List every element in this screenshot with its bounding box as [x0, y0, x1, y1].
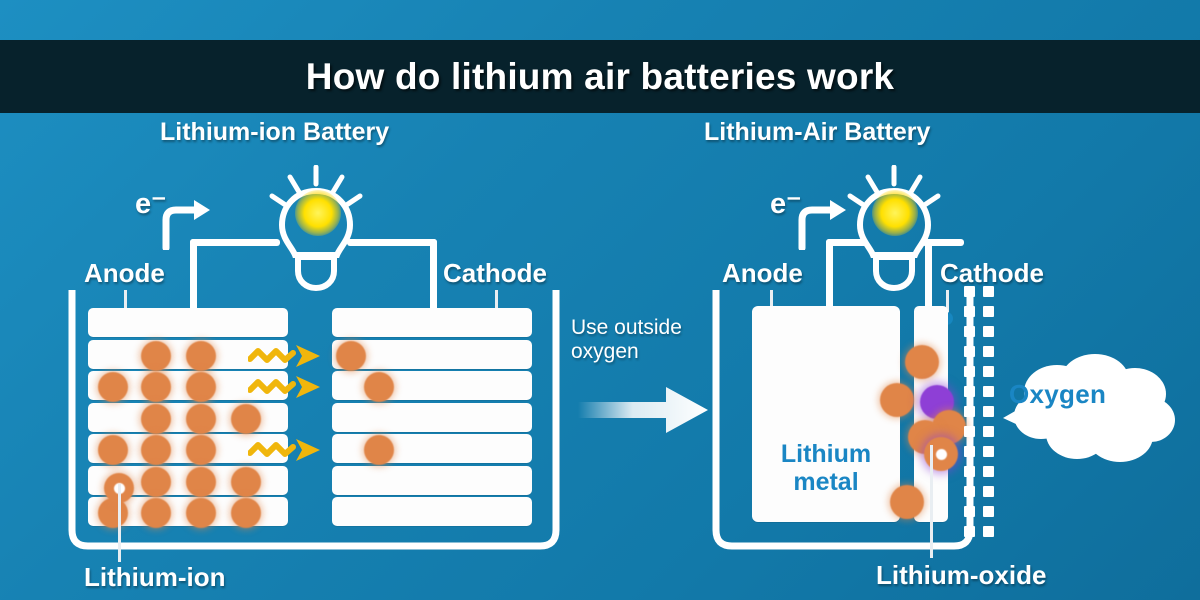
left-anode-label: Anode — [84, 258, 165, 289]
lithium-ion-dot — [186, 372, 216, 402]
lithium-ion-dot — [186, 404, 216, 434]
membrane-dot — [983, 286, 994, 297]
page-title: How do lithium air batteries work — [306, 56, 894, 98]
lithium-ion-dot — [336, 341, 366, 371]
membrane-dot — [983, 526, 994, 537]
left-cathode-wire-horizontal — [347, 239, 437, 246]
lithium-ion-callout-line — [118, 484, 121, 562]
lithium-ion-dot — [141, 498, 171, 528]
left-anode-wire-horizontal — [190, 239, 280, 246]
left-cathode-label: Cathode — [443, 258, 547, 289]
lithium-ion-dot — [231, 498, 261, 528]
cathode-layer — [332, 403, 532, 432]
membrane-dot — [983, 506, 994, 517]
lithium-metal-label-line1: Lithium — [760, 440, 892, 468]
membrane-dot — [964, 426, 975, 437]
lithium-ion-dot — [141, 404, 171, 434]
cathode-layer — [332, 371, 532, 400]
oxygen-bubble-text-wrap: Oxygen — [1009, 379, 1106, 410]
membrane-dot — [964, 466, 975, 477]
ion-transfer-arrow-icon — [248, 437, 326, 463]
lithium-oxide-callout-label: Lithium-oxide — [876, 560, 1046, 591]
oxygen-bubble-label: Oxygen — [1009, 379, 1106, 409]
ion-transfer-arrow-icon — [248, 343, 326, 369]
cathode-layer — [332, 466, 532, 495]
speech-cloud-icon — [985, 350, 1177, 472]
lithium-ion-dot — [141, 435, 171, 465]
membrane-dot — [983, 306, 994, 317]
lithium-ion-dot — [364, 435, 394, 465]
cathode-layer — [332, 434, 532, 463]
lithium-ion-dot — [186, 467, 216, 497]
membrane-dot — [964, 526, 975, 537]
lithium-ion-dot — [186, 341, 216, 371]
lithium-metal-label-line2: metal — [760, 468, 892, 496]
middle-caption-line2: oxygen — [571, 340, 682, 364]
right-cathode-label: Cathode — [940, 258, 1044, 289]
membrane-dot — [964, 306, 975, 317]
lithium-ion-dot — [141, 372, 171, 402]
lithium-ion-dot — [98, 372, 128, 402]
right-anode-label: Anode — [722, 258, 803, 289]
membrane-dot — [964, 506, 975, 517]
lithium-ion-dot — [186, 498, 216, 528]
lithium-ion-dot — [231, 467, 261, 497]
middle-caption: Use outside oxygen — [571, 316, 682, 363]
bulb-glow — [872, 190, 918, 236]
title-bar: How do lithium air batteries work — [0, 40, 1200, 113]
lithium-ion-dot — [231, 404, 261, 434]
lithium-ion-dot — [98, 435, 128, 465]
cathode-layer — [332, 308, 532, 337]
lithium-ion-dot — [880, 383, 914, 417]
lithium-ion-dot — [186, 435, 216, 465]
membrane-dot — [964, 346, 975, 357]
cathode-layer — [332, 497, 532, 526]
membrane-dot — [964, 366, 975, 377]
lithium-ion-callout-label: Lithium-ion — [84, 562, 226, 593]
lithium-metal-label: Lithium metal — [760, 440, 892, 496]
bulb-glow — [295, 190, 341, 236]
lithium-ion-dot — [141, 467, 171, 497]
membrane-dot — [983, 486, 994, 497]
lithium-ion-dot — [890, 485, 924, 519]
membrane-dot — [964, 486, 975, 497]
infographic-canvas: How do lithium air batteries work Lithiu… — [0, 0, 1200, 600]
membrane-dot — [983, 326, 994, 337]
anode-layer — [88, 308, 288, 337]
right-anode-wire-horizontal — [826, 239, 868, 246]
lithium-ion-dot — [98, 498, 128, 528]
membrane-dot — [964, 406, 975, 417]
right-arrow-icon — [578, 385, 710, 435]
membrane-dot — [964, 446, 975, 457]
middle-caption-line1: Use outside — [571, 316, 682, 340]
lithium-ion-dot — [364, 372, 394, 402]
lithium-oxide-callout-line — [930, 445, 933, 558]
ion-transfer-arrow-icon — [248, 374, 326, 400]
lithium-ion-dot — [141, 341, 171, 371]
right-panel-title: Lithium-Air Battery — [704, 118, 930, 147]
membrane-dot — [964, 386, 975, 397]
membrane-dot — [964, 326, 975, 337]
membrane-dot — [964, 286, 975, 297]
lithium-ion-dot — [905, 345, 939, 379]
left-panel-title: Lithium-ion Battery — [160, 118, 389, 147]
